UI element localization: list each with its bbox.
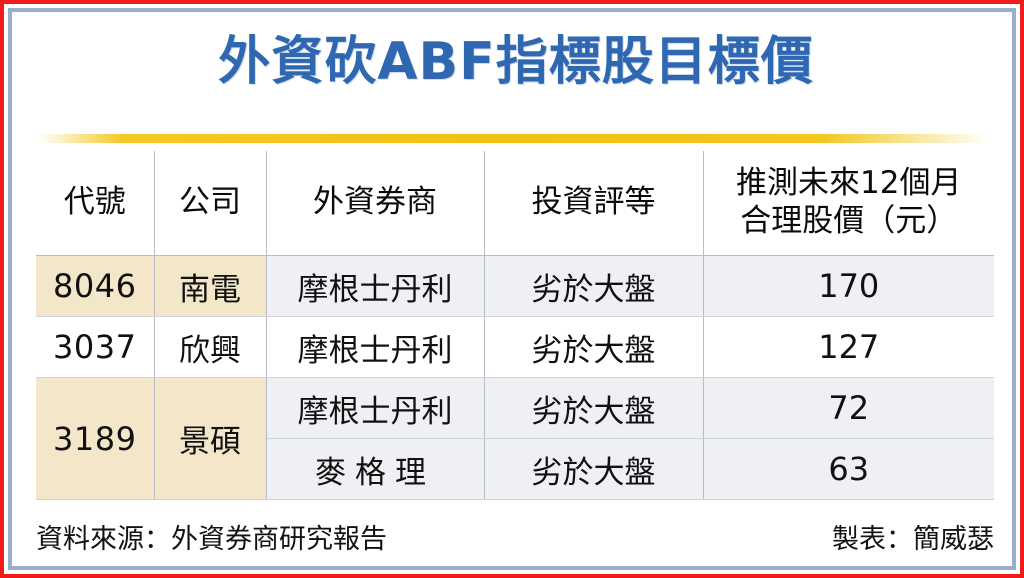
cell-broker: 麥格理: [266, 439, 484, 500]
gold-divider-rule: [38, 134, 990, 143]
table-row: 8046 南電 摩根士丹利 劣於大盤 170: [36, 256, 994, 317]
table-container: 代號 公司 外資券商 投資評等 推測未來12個月 合理股價（元）: [36, 151, 994, 500]
table-header-row: 代號 公司 外資券商 投資評等 推測未來12個月 合理股價（元）: [36, 151, 994, 256]
cell-code: 3189: [36, 378, 154, 500]
cell-code: 3037: [36, 317, 154, 378]
column-header-company: 公司: [154, 151, 266, 256]
column-header-code: 代號: [36, 151, 154, 256]
cell-broker: 摩根士丹利: [266, 256, 484, 317]
inner-frame-border: 外資砍ABF指標股目標價 代號: [8, 8, 1016, 570]
cell-code: 8046: [36, 256, 154, 317]
cell-target-price: 170: [703, 256, 994, 317]
cell-rating: 劣於大盤: [484, 317, 703, 378]
footer-credit: 製表：簡威瑟: [832, 517, 994, 556]
title-area: 外資砍ABF指標股目標價: [12, 34, 1012, 91]
cell-company: 南電: [154, 256, 266, 317]
footer-source: 資料來源：外資券商研究報告: [36, 517, 387, 556]
cell-rating: 劣於大盤: [484, 378, 703, 439]
cell-rating: 劣於大盤: [484, 256, 703, 317]
content-canvas: 外資砍ABF指標股目標價 代號: [12, 12, 1012, 566]
column-header-rating: 投資評等: [484, 151, 703, 256]
infographic-page: 外資砍ABF指標股目標價 代號: [0, 0, 1024, 578]
column-header-target-price: 推測未來12個月 合理股價（元）: [703, 151, 994, 256]
target-price-table: 代號 公司 外資券商 投資評等 推測未來12個月 合理股價（元）: [36, 151, 994, 500]
cell-company: 景碩: [154, 378, 266, 500]
cell-rating: 劣於大盤: [484, 439, 703, 500]
cell-company: 欣興: [154, 317, 266, 378]
cell-broker: 摩根士丹利: [266, 378, 484, 439]
cell-broker: 摩根士丹利: [266, 317, 484, 378]
column-header-target-price-line2: 合理股價（元）: [704, 203, 995, 241]
column-header-target-price-line1: 推測未來12個月: [704, 165, 995, 203]
cell-target-price: 127: [703, 317, 994, 378]
column-header-broker: 外資券商: [266, 151, 484, 256]
page-title: 外資砍ABF指標股目標價: [218, 34, 813, 91]
cell-target-price: 72: [703, 378, 994, 439]
table-row: 3037 欣興 摩根士丹利 劣於大盤 127: [36, 317, 994, 378]
table-row: 3189 景碩 摩根士丹利 劣於大盤 72: [36, 378, 994, 439]
footer: 資料來源：外資券商研究報告 製表：簡威瑟: [36, 512, 994, 560]
cell-target-price: 63: [703, 439, 994, 500]
